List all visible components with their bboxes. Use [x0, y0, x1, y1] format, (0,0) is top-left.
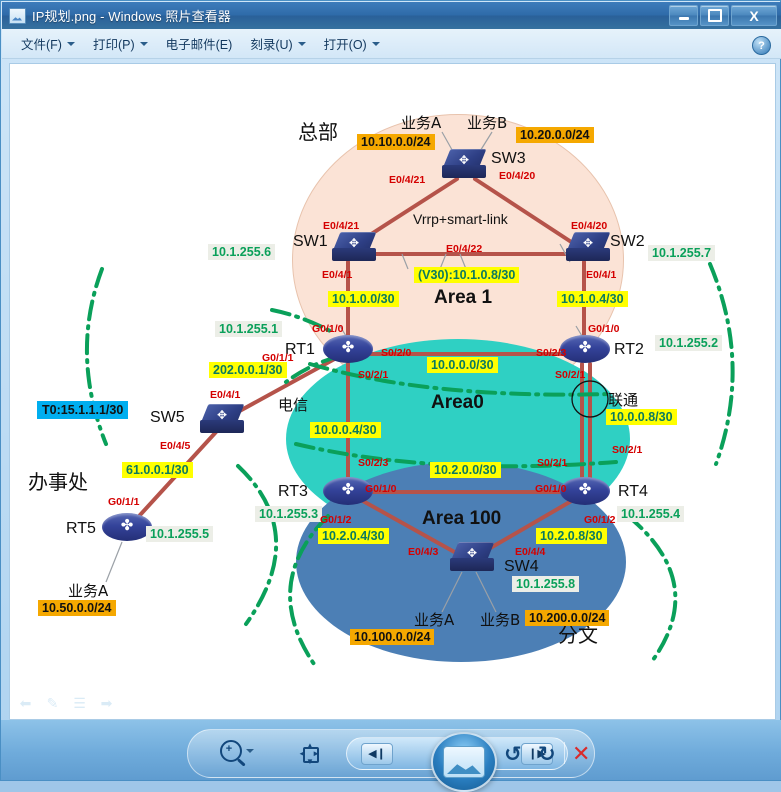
menu-item-burn-label: 刻录(U)	[250, 34, 292, 53]
loopback-badge-rt5: 10.1.255.5	[146, 526, 213, 542]
chevron-down-icon	[372, 42, 380, 46]
interface-label-rt2-s0-2-3: S0/2/3	[536, 347, 566, 359]
subnet-badge-10-50-0-0-24: 10.50.0.0/24	[38, 600, 116, 616]
close-button[interactable]: X	[731, 5, 777, 26]
previous-icon: ◀❙	[368, 747, 386, 760]
service-label-b-hq: 业务B	[467, 112, 507, 133]
window-title: IP规划.png - Windows 照片查看器	[32, 6, 231, 25]
subnet-badge-61-0-0-1-30: 61.0.0.1/30	[122, 462, 193, 478]
isp-label-telecom: 电信	[278, 394, 308, 415]
subnet-badge-vlan30-10-1-0-8-30: (V30):10.1.0.8/30	[414, 267, 519, 283]
node-sw3[interactable]: ✥	[442, 149, 486, 181]
interface-label-rt5-g0-1-1: G0/1/1	[108, 496, 140, 508]
node-label-sw3: SW3	[491, 150, 526, 168]
window-frame: IP规划.png - Windows 照片查看器 X 文件(F) 打印(P) 电…	[0, 0, 781, 781]
loopback-badge-sw1: 10.1.255.6	[208, 244, 275, 260]
interface-label-sw5-e0-4-5: E0/4/5	[160, 440, 190, 452]
node-label-rt5: RT5	[66, 520, 96, 538]
service-label-a-hq: 业务A	[401, 112, 441, 133]
service-label-a-office: 业务A	[68, 580, 108, 601]
subnet-badge-10-10-0-0-24: 10.10.0.0/24	[357, 134, 435, 150]
site-label-branch-office: 办事处	[28, 466, 88, 495]
switch-icon: ✥	[342, 236, 366, 251]
subnet-badge-10-0-0-4-30: 10.0.0.4/30	[310, 422, 381, 438]
close-icon: X	[749, 9, 758, 23]
subnet-badge-10-200-0-0-24: 10.200.0.0/24	[525, 610, 609, 626]
network-diagram: ✥ ✥ ✥ ✥ ✥ ✤ ✤ ✤ ✤ ✤ SW3 SW1 SW2 SW4 SW5 …	[10, 64, 775, 719]
interface-label-sw1-e0-4-1: E0/4/1	[322, 269, 352, 281]
subnet-badge-10-2-0-0-30: 10.2.0.0/30	[430, 462, 501, 478]
node-rt5[interactable]: ✤	[102, 510, 152, 544]
loopback-badge-rt4: 10.1.255.4	[617, 506, 684, 522]
previous-image-button[interactable]: ◀❙	[361, 743, 393, 765]
annotation-vrrp-smart-link: Vrrp+smart-link	[413, 211, 508, 227]
fit-to-window-button[interactable]: ◄ ► ▲ ▼	[298, 742, 320, 764]
node-label-sw1: SW1	[293, 233, 328, 251]
router-icon: ✤	[102, 518, 152, 534]
interface-label-rt2-g0-1-0: G0/1/0	[588, 323, 620, 335]
lines-icon: ☰	[72, 696, 87, 711]
zoom-in-icon: +	[220, 740, 242, 762]
chevron-down-icon[interactable]	[246, 749, 254, 753]
loopback-badge-rt3: 10.1.255.3	[255, 506, 322, 522]
slideshow-button[interactable]	[431, 732, 497, 792]
chevron-down-icon	[140, 42, 148, 46]
switch-icon: ✥	[452, 153, 476, 168]
loopback-badge-rt1: 10.1.255.1	[215, 321, 282, 337]
interface-label-rt1-g0-1-0: G0/1/0	[312, 323, 344, 335]
area-label-area100: Area 100	[422, 508, 501, 530]
node-rt2[interactable]: ✤	[560, 332, 610, 366]
menu-item-open[interactable]: 打开(O)	[315, 30, 389, 57]
back-arrow-icon: ⬅	[18, 696, 33, 711]
loopback-badge-rt2: 10.1.255.2	[655, 335, 722, 351]
menu-item-print-label: 打印(P)	[93, 34, 135, 53]
node-sw4[interactable]: ✥	[450, 542, 494, 574]
title-bar: IP规划.png - Windows 照片查看器 X	[2, 2, 781, 29]
switch-icon: ✥	[460, 546, 484, 561]
menu-bar: 文件(F) 打印(P) 电子邮件(E) 刻录(U) 打开(O) ?	[2, 29, 781, 59]
chevron-down-icon	[298, 42, 306, 46]
minimize-button[interactable]	[669, 5, 698, 26]
interface-label-sw4-e0-4-3: E0/4/3	[408, 546, 438, 558]
rotate-clockwise-button[interactable]: ↻	[538, 742, 556, 767]
window-controls: X	[669, 5, 777, 26]
image-viewport: ✥ ✥ ✥ ✥ ✥ ✤ ✤ ✤ ✤ ✤ SW3 SW1 SW2 SW4 SW5 …	[9, 63, 776, 720]
switch-icon: ✥	[576, 236, 600, 251]
menu-item-email-label: 电子邮件(E)	[166, 34, 233, 53]
router-icon: ✤	[323, 340, 373, 356]
node-sw2[interactable]: ✥	[566, 232, 610, 264]
menu-item-file[interactable]: 文件(F)	[12, 30, 84, 57]
subnet-badge-tunnel0: T0:15.1.1.1/30	[37, 401, 128, 419]
slideshow-icon	[443, 746, 485, 778]
menu-item-email[interactable]: 电子邮件(E)	[157, 30, 242, 57]
subnet-badge-10-0-0-0-30: 10.0.0.0/30	[427, 357, 498, 373]
menu-item-burn[interactable]: 刻录(U)	[241, 30, 314, 57]
node-label-sw4: SW4	[504, 558, 539, 576]
interface-label-rt1-s0-2-0: S0/2/0	[381, 347, 411, 359]
menu-item-open-label: 打开(O)	[324, 34, 367, 53]
help-icon[interactable]: ?	[752, 36, 771, 55]
zoom-control[interactable]: +	[220, 740, 254, 762]
area-label-area0: Area0	[431, 392, 484, 414]
area-label-area1: Area 1	[434, 287, 492, 309]
subnet-badge-10-1-0-4-30: 10.1.0.4/30	[557, 291, 628, 307]
chevron-down-icon	[67, 42, 75, 46]
maximize-button[interactable]	[700, 5, 729, 26]
subnet-badge-202-0-0-1-30: 202.0.0.1/30	[209, 362, 287, 378]
photo-viewer-window: IP规划.png - Windows 照片查看器 X 文件(F) 打印(P) 电…	[0, 0, 781, 781]
service-label-a-branch: 业务A	[414, 609, 454, 630]
node-rt4[interactable]: ✤	[560, 474, 610, 508]
interface-label-rt4-s0-2-3: S0/2/1	[537, 457, 567, 469]
loopback-badge-sw4: 10.1.255.8	[512, 576, 579, 592]
link-layer	[10, 64, 775, 719]
bottom-toolbar: + ◄ ► ▲ ▼ ◀❙ ❙▶ ↺ ↻ ✕	[187, 729, 595, 778]
node-label-sw5: SW5	[150, 409, 185, 427]
interface-label-rt1-g0-1-1: G0/1/1	[262, 352, 294, 364]
image-edit-icons: ⬅ ✎ ☰ ➡	[18, 696, 114, 711]
switch-icon: ✥	[210, 408, 234, 423]
delete-button[interactable]: ✕	[572, 741, 590, 767]
interface-label-sw2-e0-4-20: E0/4/20	[571, 220, 607, 232]
site-label-headquarters: 总部	[298, 116, 338, 145]
menu-item-print[interactable]: 打印(P)	[84, 30, 157, 57]
interface-label-rt4-s0-2-1: S0/2/1	[612, 444, 642, 456]
node-rt1[interactable]: ✤	[323, 332, 373, 366]
pencil-icon: ✎	[45, 696, 60, 711]
interface-label-rt4-g0-1-2: G0/1/2	[584, 514, 616, 526]
node-sw1[interactable]: ✥	[332, 232, 376, 264]
toolbar-divider	[564, 742, 565, 764]
loopback-badge-sw2: 10.1.255.7	[648, 245, 715, 261]
isp-label-unicom: 联通	[608, 389, 638, 410]
interface-label-sw2-e0-4-1: E0/4/1	[586, 269, 616, 281]
service-label-b-branch: 业务B	[480, 609, 520, 630]
subnet-badge-10-1-0-0-30: 10.1.0.0/30	[328, 291, 399, 307]
menu-item-file-label: 文件(F)	[21, 34, 62, 53]
subnet-badge-10-2-0-4-30: 10.2.0.4/30	[318, 528, 389, 544]
interface-label-sw3-e0-4-21: E0/4/21	[389, 174, 425, 186]
interface-label-rt1-s0-2-1: S0/2/1	[358, 369, 388, 381]
interface-label-sw4-e0-4-4: E0/4/4	[515, 546, 545, 558]
node-label-rt4: RT4	[618, 483, 648, 501]
interface-label-rt3-g0-1-2: G0/1/2	[320, 514, 352, 526]
node-label-rt3: RT3	[278, 483, 308, 501]
interface-label-rt2-s0-2-1: S0/2/1	[555, 369, 585, 381]
subnet-badge-10-100-0-0-24: 10.100.0.0/24	[350, 629, 434, 645]
router-icon: ✤	[560, 482, 610, 498]
rotate-counterclockwise-button[interactable]: ↺	[504, 742, 522, 767]
interface-label-rt3-s0-2-1: S0/2/3	[358, 457, 388, 469]
node-sw5[interactable]: ✥	[200, 404, 244, 436]
interface-label-sw3-e0-4-20: E0/4/20	[499, 170, 535, 182]
interface-label-sw5-e0-4-1: E0/4/1	[210, 389, 240, 401]
interface-label-e0-4-22: E0/4/22	[446, 243, 482, 255]
forward-arrow-icon: ➡	[99, 696, 114, 711]
subnet-badge-10-2-0-8-30: 10.2.0.8/30	[536, 528, 607, 544]
subnet-badge-10-0-0-8-30: 10.0.0.8/30	[606, 409, 677, 425]
subnet-badge-10-20-0-0-24: 10.20.0.0/24	[516, 127, 594, 143]
interface-label-rt4-g0-1-0: G0/1/0	[535, 483, 567, 495]
photo-icon	[9, 8, 26, 24]
node-label-rt2: RT2	[614, 341, 644, 359]
interface-label-rt3-g0-1-0: G0/1/0	[365, 483, 397, 495]
node-label-sw2: SW2	[610, 233, 645, 251]
interface-label-sw1-e0-4-21: E0/4/21	[323, 220, 359, 232]
router-icon: ✤	[560, 340, 610, 356]
